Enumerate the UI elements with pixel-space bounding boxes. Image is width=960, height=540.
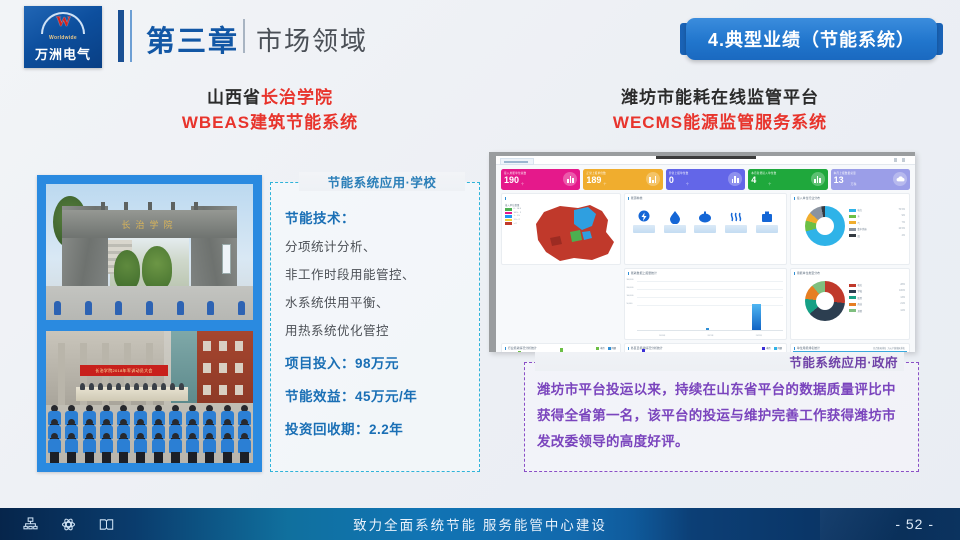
right-info-legend: 节能系统应用·政府 (535, 352, 904, 371)
map-panel[interactable]: 接入单位数量 0 - 10.5 10.5 - 1 1 - 1.5 1.5 - 2… (501, 193, 621, 265)
kpi-card[interactable]: 本月新增接入单位数 4 个 (748, 169, 827, 190)
industry-energy-chart-panel[interactable]: 行业能耗情况分析统计 本月同期 (501, 343, 621, 352)
unit-type-donut-chart (805, 281, 845, 321)
left-metric-benefit: 节能效益：45万元/年 (285, 385, 479, 405)
section-badge-label: 4.典型业绩（节能系统） (708, 26, 915, 52)
industry-donut-chart (805, 206, 845, 246)
page-header: W Worldwide 万洲电气 第三章 市场领域 4.典型业绩（节能系统） (0, 0, 960, 78)
industry-panel-title: 接入单位行业分布 (791, 194, 909, 200)
crowd-group (46, 405, 253, 463)
right-info-box: 节能系统应用·政府 潍坊市平台投运以来，持续在山东省平台的数据质量评比中获得全省… (524, 362, 919, 472)
gauge-icon (646, 172, 660, 186)
header-divider-thick (118, 10, 124, 62)
map-legend-title: 接入单位数量 (505, 203, 531, 207)
kpi-unit: 个 (603, 182, 606, 186)
energy-gas-icon[interactable] (694, 206, 716, 233)
chapter-separator (243, 19, 245, 53)
report-volume-title: 能耗数据上报量统计 (625, 269, 786, 275)
browser-tab[interactable] (500, 158, 534, 165)
logo-worldwide-text: Worldwide (49, 35, 77, 41)
kpi-card[interactable]: 本月上报数据总量 13 万条 (831, 169, 910, 190)
left-info-heading: 节能技术： (285, 207, 479, 227)
window-controls[interactable] (894, 158, 910, 162)
cloud-icon (893, 172, 907, 186)
campus-gate-photo: 长治学院 (46, 184, 253, 320)
energy-ranking-table-panel[interactable]: 单位用能排名统计 综合能耗排名 万元产值能耗排名 排名名次 单位名称 综合能耗总… (790, 343, 910, 352)
energy-electric-icon[interactable] (633, 206, 655, 233)
kpi-card[interactable]: 正常上报单位数 189 个 (583, 169, 662, 190)
left-title-line2: WBEAS建筑节能系统 (60, 111, 480, 136)
left-info-item: 用热系统优化管控 (285, 320, 479, 339)
logo-w-mark: W (41, 14, 85, 31)
photo-frame: 长治学院 长治学院2018年军训动员大会 (37, 175, 262, 472)
gate-inscription: 长治学院 (62, 210, 237, 238)
industry-distribution-panel[interactable]: 接入单位行业分布 电力70.5% 水9% 气7% 集中供热10.5% 煤4% (790, 193, 910, 265)
report-volume-chart-panel[interactable]: 能耗数据上报量统计 300,000200,000100,00050,000 20… (624, 268, 787, 340)
kpi-unit: 万条 (851, 182, 857, 186)
unit-type-donut-legend: 机关28% 学校100% 医院13% 商业21% 其他12% (849, 283, 905, 315)
energy-type-panel[interactable]: 能源种类 (624, 193, 787, 265)
left-info-item: 非工作时段用能管控、 (285, 264, 479, 283)
kpi-card-row: 接入用能单位总数 190 个 正常上报单位数 189 个 异常上报单位数 0 个… (496, 165, 915, 193)
browser-topbar (496, 156, 915, 165)
ranking-table-links[interactable]: 综合能耗排名 万元产值能耗排名 (873, 346, 905, 350)
industry-donut-legend: 电力70.5% 水9% 气7% 集中供热10.5% 煤4% (849, 208, 905, 240)
ceremony-banner: 长治学院2018年军训动员大会 (80, 365, 168, 376)
kpi-unit: 个 (768, 182, 771, 186)
right-title-line2: WECMS能源监管服务系统 (500, 111, 940, 136)
right-title-line1: 潍坊市能耗在线监管平台 (500, 86, 940, 111)
left-title-line1: 山西省长治学院 (60, 86, 480, 111)
left-info-item: 水系统供用平衡、 (285, 292, 479, 311)
map-panel-title (502, 194, 620, 200)
left-metric-investment: 项目投入：98万元 (285, 352, 479, 372)
dashboard-middle-row-2: 能耗数据上报量统计 300,000200,000100,00050,000 20… (496, 268, 915, 340)
logo-emblem-icon: W (41, 12, 85, 34)
bar-chart-icon (811, 172, 825, 186)
energy-coal-icon[interactable] (756, 206, 778, 233)
chapter-title: 第三章 (146, 18, 239, 60)
left-metric-payback: 投资回收期：2.2年 (285, 418, 479, 438)
left-info-box: 节能系统应用·学校 节能技术： 分项统计分析、 非工作时段用能管控、 水系统供用… (270, 182, 480, 472)
energy-heat-icon[interactable] (725, 206, 747, 233)
map-legend: 接入单位数量 0 - 10.5 10.5 - 1 1 - 1.5 1.5 - 2… (505, 203, 531, 225)
section-badge: 4.典型业绩（节能系统） (686, 18, 937, 60)
right-section-title: 潍坊市能耗在线监管平台 WECMS能源监管服务系统 (500, 86, 940, 135)
footer-slogan: 致力全面系统节能 服务能管中心建设 (0, 514, 960, 534)
page-footer: 致力全面系统节能 服务能管中心建设 - 52 - (0, 508, 960, 540)
left-info-item: 分项统计分析、 (285, 236, 479, 255)
logo-company-name: 万洲电气 (35, 44, 91, 63)
dashboard-bottom-row: 行业能耗情况分析统计 本月同期 各区县能耗情况分析统计 本月同期 (496, 340, 915, 352)
unit-type-title: 用能单位类型分布 (791, 269, 909, 275)
kpi-card[interactable]: 接入用能单位总数 190 个 (501, 169, 580, 190)
dashboard-middle-row: 接入单位数量 0 - 10.5 10.5 - 1 1 - 1.5 1.5 - 2… (496, 193, 915, 265)
left-info-legend: 节能系统应用·学校 (299, 172, 465, 191)
company-logo: W Worldwide 万洲电气 (24, 6, 102, 68)
weifang-map-icon (530, 202, 620, 264)
district-energy-chart-panel[interactable]: 各区县能耗情况分析统计 本月同期 (624, 343, 787, 352)
kpi-unit: 个 (686, 182, 689, 186)
dashboard-screenshot: 接入用能单位总数 190 个 正常上报单位数 189 个 异常上报单位数 0 个… (489, 152, 915, 352)
browser-urlbar[interactable] (656, 156, 756, 159)
unit-type-panel[interactable]: 用能单位类型分布 机关28% 学校100% 医院13% 商业21% 其他12% (790, 268, 910, 340)
kpi-card[interactable]: 异常上报单位数 0 个 (666, 169, 745, 190)
dashboard-browser: 接入用能单位总数 190 个 正常上报单位数 189 个 异常上报单位数 0 个… (496, 156, 915, 352)
right-info-body: 潍坊市平台投运以来，持续在山东省平台的数据质量评比中获得全省第一名，该平台的投运… (537, 377, 906, 455)
left-section-title: 山西省长治学院 WBEAS建筑节能系统 (60, 86, 480, 135)
kpi-unit: 个 (521, 182, 524, 186)
footer-page-number: - 52 - (895, 516, 934, 532)
energy-water-icon[interactable] (664, 206, 686, 233)
chapter-subtitle: 市场领域 (256, 21, 368, 58)
ceremony-photo: 长治学院2018年军训动员大会 (46, 331, 253, 463)
header-divider-thin (130, 10, 132, 62)
